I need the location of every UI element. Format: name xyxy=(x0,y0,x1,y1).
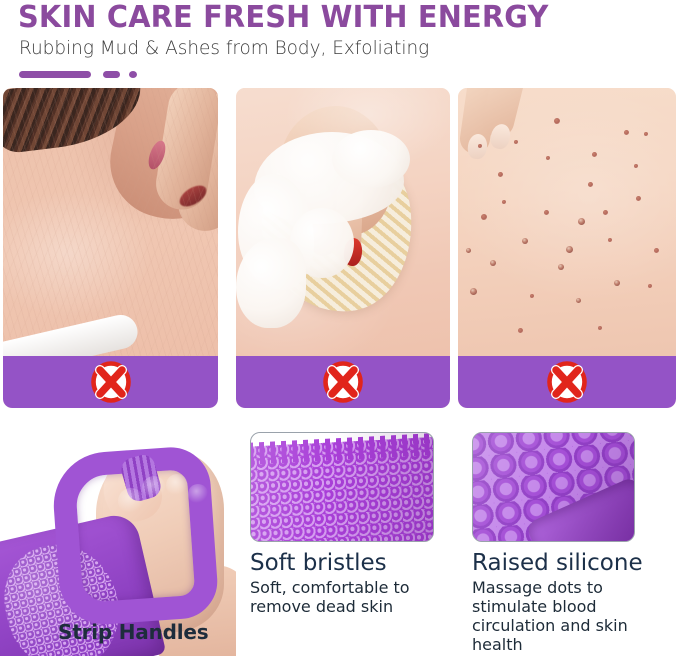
acne-spot xyxy=(603,210,608,215)
problem-panel-2 xyxy=(236,88,450,408)
feature-raised-silicone: Raised silicone Massage dots to stimulat… xyxy=(472,432,679,654)
acne-spot xyxy=(608,238,612,242)
acne-spot-cluster xyxy=(458,88,676,356)
page-subtitle: Rubbing Mud & Ashes from Body, Exfoliati… xyxy=(19,36,429,60)
shading-overlay xyxy=(251,433,433,541)
acne-spot xyxy=(598,326,602,330)
acne-spot xyxy=(490,260,496,266)
acne-spot xyxy=(546,156,550,160)
feature-description: Massage dots to stimulate blood circulat… xyxy=(472,578,667,654)
red-x-badge-icon xyxy=(89,360,133,404)
rule-dot xyxy=(129,71,137,78)
problem-image-neck-skin xyxy=(3,88,218,356)
knuckle-highlight xyxy=(142,476,166,500)
acne-spot xyxy=(588,182,593,187)
problem-image-acne-back xyxy=(458,88,676,356)
acne-spot xyxy=(558,264,564,270)
product-caption: Strip Handles xyxy=(58,620,208,644)
decorative-rule xyxy=(19,71,139,79)
acne-spot xyxy=(481,214,487,220)
acne-spot xyxy=(634,164,638,168)
acne-spot xyxy=(644,132,648,136)
acne-spot xyxy=(502,200,506,204)
highlight-overlay xyxy=(236,88,450,356)
acne-spot xyxy=(614,280,620,286)
problem-panel-3 xyxy=(458,88,676,408)
acne-spot xyxy=(566,246,573,253)
acne-spot xyxy=(498,172,503,177)
acne-spot xyxy=(530,294,534,298)
acne-spot xyxy=(648,284,652,288)
feature-title: Soft bristles xyxy=(250,550,458,576)
acne-spot xyxy=(654,248,659,253)
acne-spot xyxy=(522,238,528,244)
header-banner: SKIN CARE FRESH WITH ENERGY Rubbing Mud … xyxy=(0,0,679,86)
rule-segment-long xyxy=(19,71,91,78)
acne-spot xyxy=(592,152,597,157)
knuckle-highlight xyxy=(188,484,208,504)
problem-image-loofah xyxy=(236,88,450,356)
acne-spot xyxy=(554,118,560,124)
feature-title: Raised silicone xyxy=(472,550,679,576)
acne-spot xyxy=(636,196,641,201)
knuckle-highlight xyxy=(166,474,188,496)
problem-panel-footer-1 xyxy=(3,356,218,408)
acne-spot xyxy=(470,288,477,295)
red-x-badge-icon xyxy=(321,360,365,404)
knuckle-highlight xyxy=(118,488,144,514)
red-x-badge-icon xyxy=(545,360,589,404)
acne-spot xyxy=(514,140,518,144)
acne-spot xyxy=(478,144,482,148)
acne-spot xyxy=(624,130,629,135)
page-title: SKIN CARE FRESH WITH ENERGY xyxy=(18,1,549,35)
problem-panel-footer-2 xyxy=(236,356,450,408)
feature-description: Soft, comfortable to remove dead skin xyxy=(250,578,445,616)
feature-thumb-raised-silicone xyxy=(472,432,635,542)
acne-spot xyxy=(578,218,585,225)
acne-spot xyxy=(466,248,471,253)
acne-spot xyxy=(544,210,549,215)
feature-soft-bristles: Soft bristles Soft, comfortable to remov… xyxy=(250,432,458,616)
acne-spot xyxy=(518,328,523,333)
acne-spot xyxy=(576,298,581,303)
problem-panel-footer-3 xyxy=(458,356,676,408)
shading-overlay xyxy=(473,433,634,541)
problem-panel-1 xyxy=(3,88,218,408)
feature-thumb-soft-bristles xyxy=(250,432,434,542)
rule-segment-short xyxy=(103,71,120,78)
